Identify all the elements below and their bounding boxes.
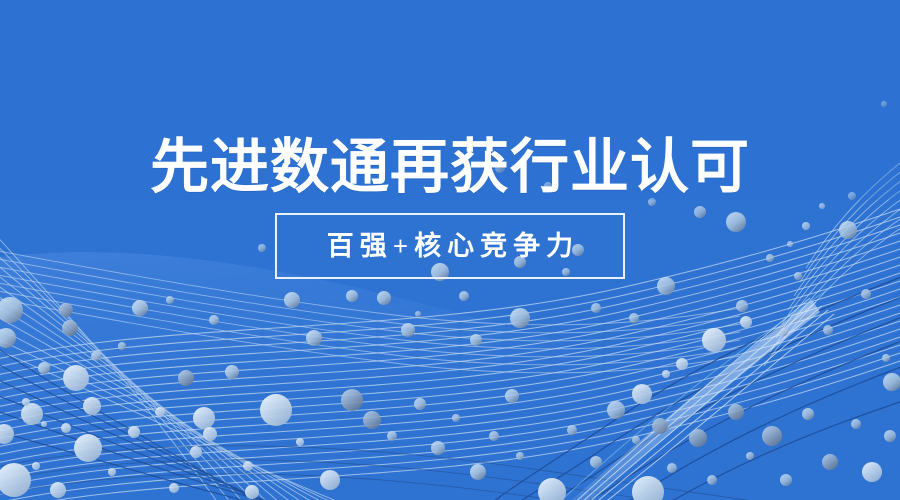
subtitle-frame: 百强+核心竞争力 xyxy=(275,213,625,279)
banner-content: 先进数通再获行业认可 百强+核心竞争力 xyxy=(0,0,900,500)
page-title: 先进数通再获行业认可 xyxy=(150,134,750,200)
subtitle-text: 百强+核心竞争力 xyxy=(321,231,579,261)
announcement-banner: 先进数通再获行业认可 百强+核心竞争力 xyxy=(0,0,900,500)
